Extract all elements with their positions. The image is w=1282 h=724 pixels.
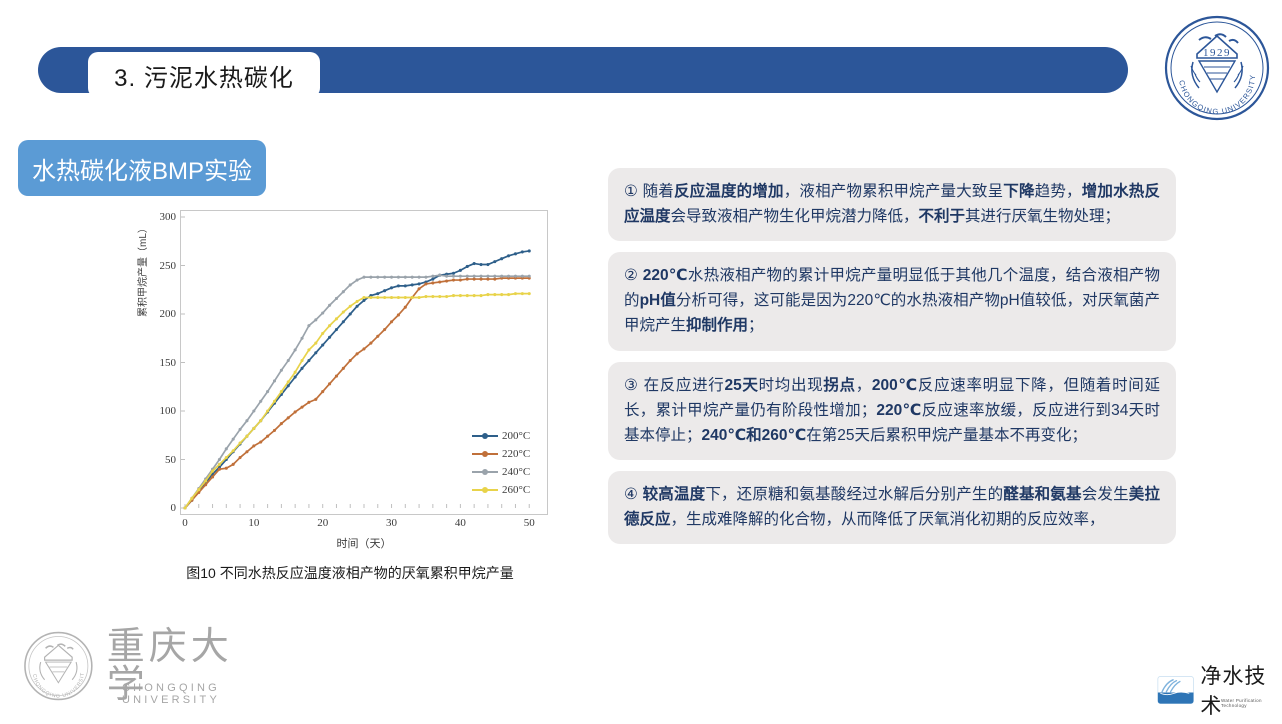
legend-item-260°C: 260°C xyxy=(472,481,530,499)
y-tick-100: 100 xyxy=(142,405,176,417)
legend-label-240°C: 240°C xyxy=(502,466,530,478)
bullet-1: ① 随着反应温度的增加，液相产物累积甲烷产量大致呈下降趋势，增加水热反应温度会导… xyxy=(608,168,1176,241)
chart-x-axis-title: 时间（天） xyxy=(180,535,548,551)
y-tick-300: 300 xyxy=(142,211,176,223)
water-wave-icon xyxy=(1157,673,1194,707)
legend-item-220°C: 220°C xyxy=(472,445,530,463)
x-tick-10: 10 xyxy=(248,517,259,529)
x-tick-0: 0 xyxy=(182,517,188,529)
legend-label-200°C: 200°C xyxy=(502,430,530,442)
legend-item-200°C: 200°C xyxy=(472,427,530,445)
x-tick-40: 40 xyxy=(455,517,466,529)
chart-caption: 图10 不同水热反应温度液相产物的厌氧累积甲烷产量 xyxy=(130,563,570,583)
chart-figure: 累积甲烷产量（mL） 050100150200250300 0102030405… xyxy=(140,205,560,590)
y-tick-50: 50 xyxy=(142,454,176,466)
legend-swatch-240°C xyxy=(472,467,498,477)
svg-text:1929: 1929 xyxy=(1203,47,1231,59)
y-tick-150: 150 xyxy=(142,357,176,369)
legend-item-240°C: 240°C xyxy=(472,463,530,481)
chongqing-university-seal-icon: 1929 CHONGQING UNIVERSITY xyxy=(1163,14,1271,122)
legend-swatch-200°C xyxy=(472,431,498,441)
x-tick-20: 20 xyxy=(317,517,328,529)
legend-label-220°C: 220°C xyxy=(502,448,530,460)
x-tick-50: 50 xyxy=(524,517,535,529)
bullet-4: ④ 较高温度下，还原糖和氨基酸经过水解后分别产生的醛基和氨基会发生美拉德反应，生… xyxy=(608,471,1176,544)
section-title-box: 3. 污泥水热碳化 xyxy=(88,52,320,98)
chart-y-tick-labels: 050100150200250300 xyxy=(140,210,176,515)
y-tick-250: 250 xyxy=(142,260,176,272)
section-title-bar: 3. 污泥水热碳化 xyxy=(38,47,1128,93)
legend-label-260°C: 260°C xyxy=(502,484,530,496)
findings-list: ① 随着反应温度的增加，液相产物累积甲烷产量大致呈下降趋势，增加水热反应温度会导… xyxy=(608,168,1176,555)
x-tick-30: 30 xyxy=(386,517,397,529)
legend-swatch-260°C xyxy=(472,485,498,495)
jsjs-logo-chinese-name: 净水技术 xyxy=(1200,660,1275,720)
y-tick-200: 200 xyxy=(142,308,176,320)
water-purification-technology-logo: 净水技术 Water Purification Technology xyxy=(1157,668,1275,712)
cqu-logo-english-name: CHONGQING UNIVERSITY xyxy=(122,682,272,706)
chongqing-university-logo: CHONGQING UNIVERSITY 重庆大学 CHONGQING UNIV… xyxy=(22,630,272,702)
subtitle-label: 水热碳化液BMP实验 xyxy=(32,151,252,186)
legend-swatch-220°C xyxy=(472,449,498,459)
bullet-2: ② 220℃水热液相产物的累计甲烷产量明显低于其他几个温度，结合液相产物的pH值… xyxy=(608,252,1176,350)
jsjs-logo-english-name: Water Purification Technology xyxy=(1221,698,1275,708)
chart-x-tick-labels: 01020304050 xyxy=(180,517,548,535)
page-title: 3. 污泥水热碳化 xyxy=(114,58,294,93)
chart-legend: 200°C220°C240°C260°C xyxy=(472,427,530,499)
bullet-3: ③ 在反应进行25天时均出现拐点，200℃反应速率明显下降，但随着时间延长，累计… xyxy=(608,362,1176,460)
y-tick-0: 0 xyxy=(142,502,176,514)
cqu-seal-gray-icon: CHONGQING UNIVERSITY xyxy=(22,629,95,703)
subtitle-pill: 水热碳化液BMP实验 xyxy=(18,140,266,196)
